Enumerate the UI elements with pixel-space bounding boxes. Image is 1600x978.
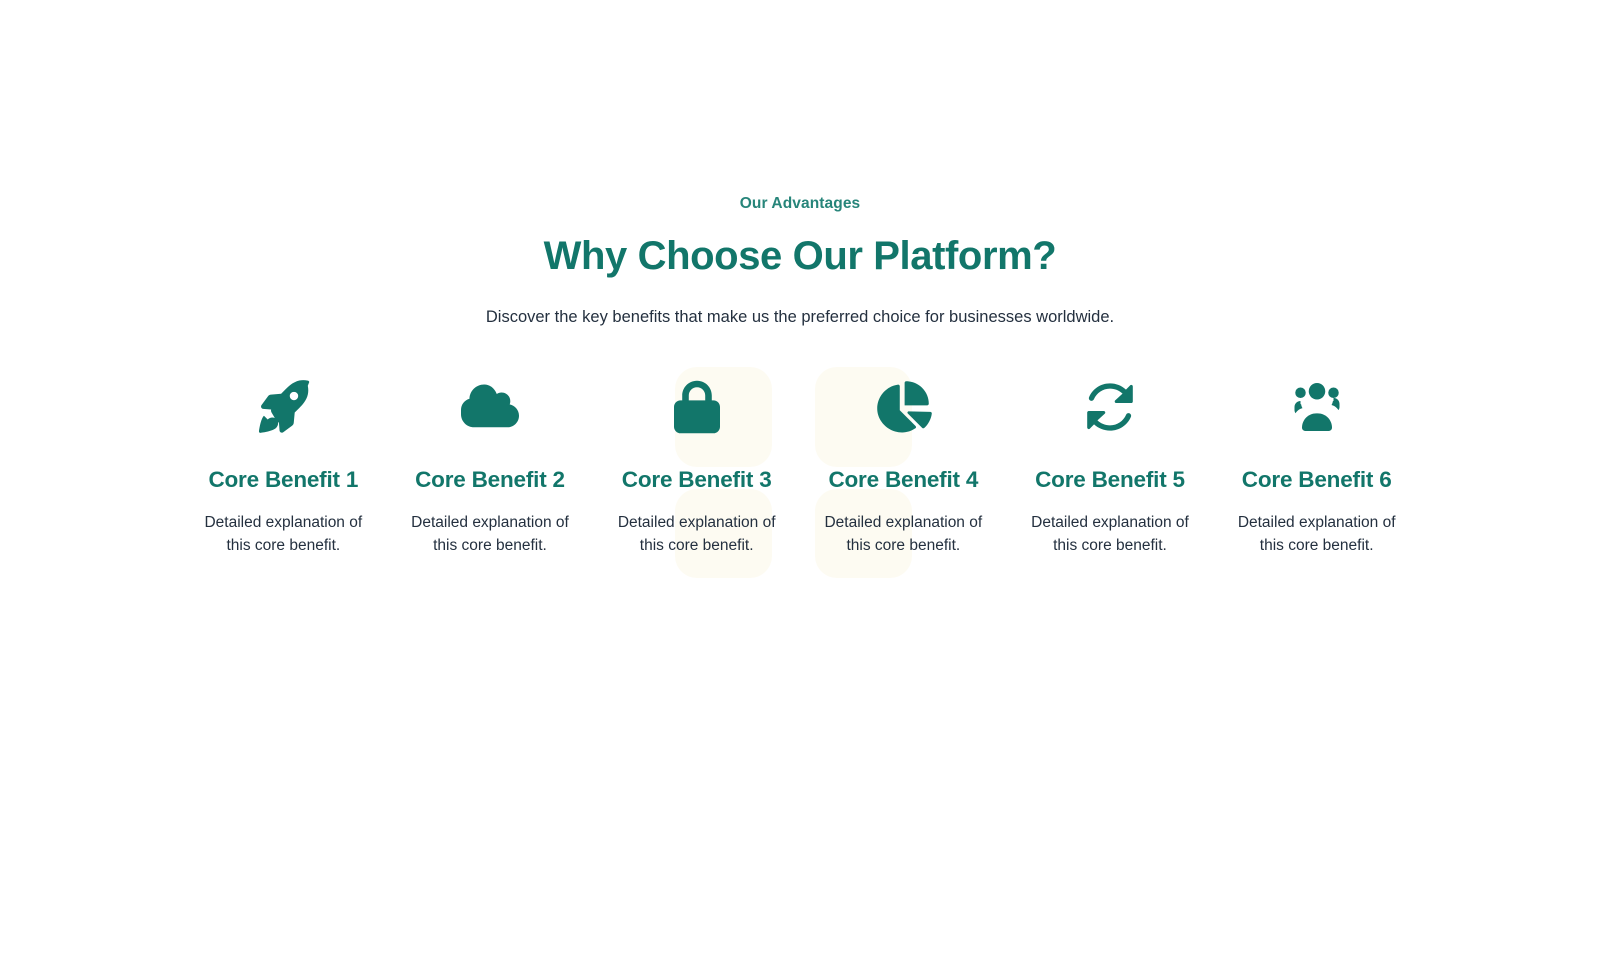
- benefit-card-5[interactable]: Core Benefit 5 Detailed explanation of t…: [1017, 376, 1204, 557]
- benefit-card-3[interactable]: Core Benefit 3 Detailed explanation of t…: [603, 376, 790, 557]
- users-group-icon: [1286, 376, 1348, 438]
- section-eyebrow: Our Advantages: [0, 196, 1600, 212]
- section-header: Our Advantages Why Choose Our Platform? …: [0, 0, 1600, 329]
- cloud-icon: [459, 376, 521, 438]
- benefit-description-1: Detailed explanation of this core benefi…: [198, 493, 369, 557]
- benefit-title-4: Core Benefit 4: [828, 438, 978, 493]
- benefit-card-4[interactable]: Core Benefit 4 Detailed explanation of t…: [810, 376, 997, 557]
- benefit-description-2: Detailed explanation of this core benefi…: [405, 493, 576, 557]
- section-subtitle: Discover the key benefits that make us t…: [350, 279, 1250, 330]
- benefits-grid: Core Benefit 1 Detailed explanation of t…: [190, 329, 1410, 557]
- benefit-card-2[interactable]: Core Benefit 2 Detailed explanation of t…: [397, 376, 584, 557]
- benefit-description-3: Detailed explanation of this core benefi…: [611, 493, 782, 557]
- page-title: Why Choose Our Platform?: [0, 212, 1600, 279]
- benefit-card-1[interactable]: Core Benefit 1 Detailed explanation of t…: [190, 376, 377, 557]
- pie-chart-icon: [872, 376, 934, 438]
- benefit-description-4: Detailed explanation of this core benefi…: [818, 493, 989, 557]
- landing-page: Our Advantages Why Choose Our Platform? …: [0, 0, 1600, 978]
- benefit-title-6: Core Benefit 6: [1242, 438, 1392, 493]
- rocket-icon: [252, 376, 314, 438]
- benefit-description-6: Detailed explanation of this core benefi…: [1231, 493, 1402, 557]
- benefit-card-6[interactable]: Core Benefit 6 Detailed explanation of t…: [1223, 376, 1410, 557]
- lock-icon: [666, 376, 728, 438]
- sync-arrows-icon: [1079, 376, 1141, 438]
- benefit-description-5: Detailed explanation of this core benefi…: [1025, 493, 1196, 557]
- benefit-title-1: Core Benefit 1: [208, 438, 358, 493]
- benefit-title-2: Core Benefit 2: [415, 438, 565, 493]
- benefit-title-5: Core Benefit 5: [1035, 438, 1185, 493]
- benefit-title-3: Core Benefit 3: [622, 438, 772, 493]
